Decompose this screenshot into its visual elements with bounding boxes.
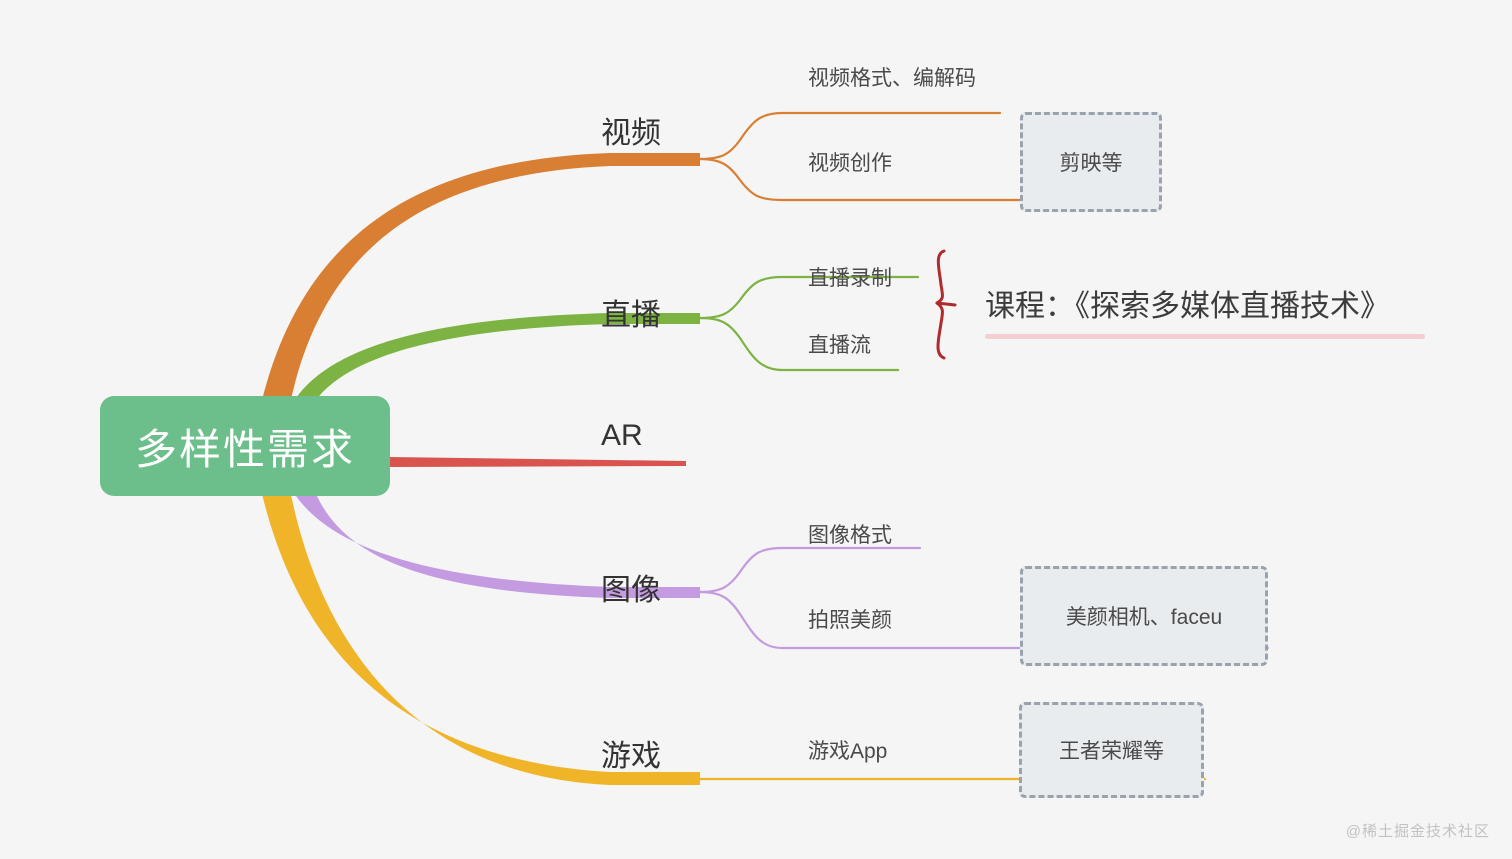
- course-annotation-underline: [985, 334, 1425, 339]
- curly-brace-tip: [937, 303, 955, 305]
- node-game-app[interactable]: 游戏App: [808, 735, 887, 765]
- annotation-box-beauty-apps-label: 美颜相机、faceu: [1066, 601, 1222, 631]
- node-live-stream[interactable]: 直播流: [808, 329, 871, 359]
- annotation-box-beauty-apps[interactable]: 美颜相机、faceu: [1020, 566, 1268, 666]
- node-live[interactable]: 直播: [601, 290, 661, 334]
- course-annotation[interactable]: 课程：《探索多媒体直播技术》: [985, 290, 1390, 325]
- node-video-creation[interactable]: 视频创作: [808, 147, 892, 177]
- node-image[interactable]: 图像: [601, 565, 661, 609]
- node-ar[interactable]: AR: [601, 419, 643, 453]
- course-annotation-text: 课程：《探索多媒体直播技术》: [985, 290, 1390, 325]
- node-image-beauty[interactable]: 拍照美颜: [808, 604, 892, 634]
- subbranch-image-format: [700, 548, 920, 592]
- root-node-label: 多样性需求: [135, 416, 355, 477]
- node-live-record[interactable]: 直播录制: [808, 262, 892, 292]
- annotation-box-game-titles-label: 王者荣耀等: [1059, 735, 1164, 765]
- mindmap-canvas: 多样性需求 视频 直播 AR 图像 游戏 视频格式、编解码 视频创作 直播录制 …: [0, 0, 1512, 859]
- annotation-box-jianying[interactable]: 剪映等: [1020, 112, 1162, 212]
- node-video[interactable]: 视频: [601, 108, 661, 152]
- annotation-box-jianying-label: 剪映等: [1060, 147, 1123, 177]
- root-node[interactable]: 多样性需求: [100, 396, 390, 496]
- node-game[interactable]: 游戏: [601, 731, 661, 775]
- node-video-format[interactable]: 视频格式、编解码: [808, 62, 976, 92]
- branch-path-video: [262, 153, 700, 404]
- watermark: @稀土掘金技术社区: [1346, 820, 1490, 841]
- annotation-box-game-titles[interactable]: 王者荣耀等: [1019, 702, 1204, 798]
- node-image-format[interactable]: 图像格式: [808, 519, 892, 549]
- branch-path-ar: [390, 457, 686, 467]
